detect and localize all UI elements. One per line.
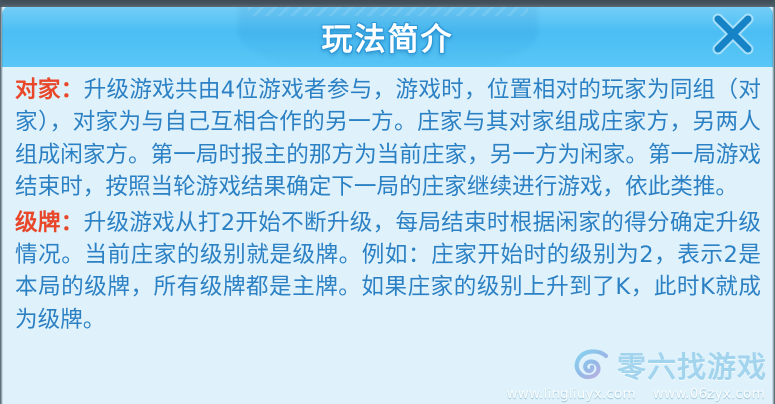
window-frame-top-edge (0, 0, 775, 7)
dialog-header: 玩法简介 (2, 5, 773, 67)
close-button[interactable] (705, 9, 761, 59)
paragraph-keyword: 级牌： (15, 210, 84, 236)
paragraph-duijia: 对家：升级游戏共由4位游戏者参与，游戏时，位置相对的玩家为同组（对家），对家为与… (15, 74, 761, 204)
page-title: 玩法简介 (2, 5, 773, 67)
close-icon (712, 14, 754, 54)
gameplay-intro-dialog: 玩法简介 对家：升级游戏共由4位游戏者参与，游戏时，位置相对的玩家为同组（对家）… (0, 0, 775, 404)
paragraph-text: 升级游戏从打2开始不断升级，每局结束时根据闲家的得分确定升级情况。当前庄家的级别… (15, 210, 761, 333)
paragraph-jipai: 级牌：升级游戏从打2开始不断升级，每局结束时根据闲家的得分确定升级情况。当前庄家… (15, 207, 761, 337)
window-frame-left-edge (0, 0, 3, 404)
paragraph-text: 升级游戏共由4位游戏者参与，游戏时，位置相对的玩家为同组（对家），对家为与自己互… (15, 77, 761, 200)
paragraph-keyword: 对家： (15, 77, 84, 103)
dialog-body: 对家：升级游戏共由4位游戏者参与，游戏时，位置相对的玩家为同组（对家），对家为与… (2, 67, 773, 402)
